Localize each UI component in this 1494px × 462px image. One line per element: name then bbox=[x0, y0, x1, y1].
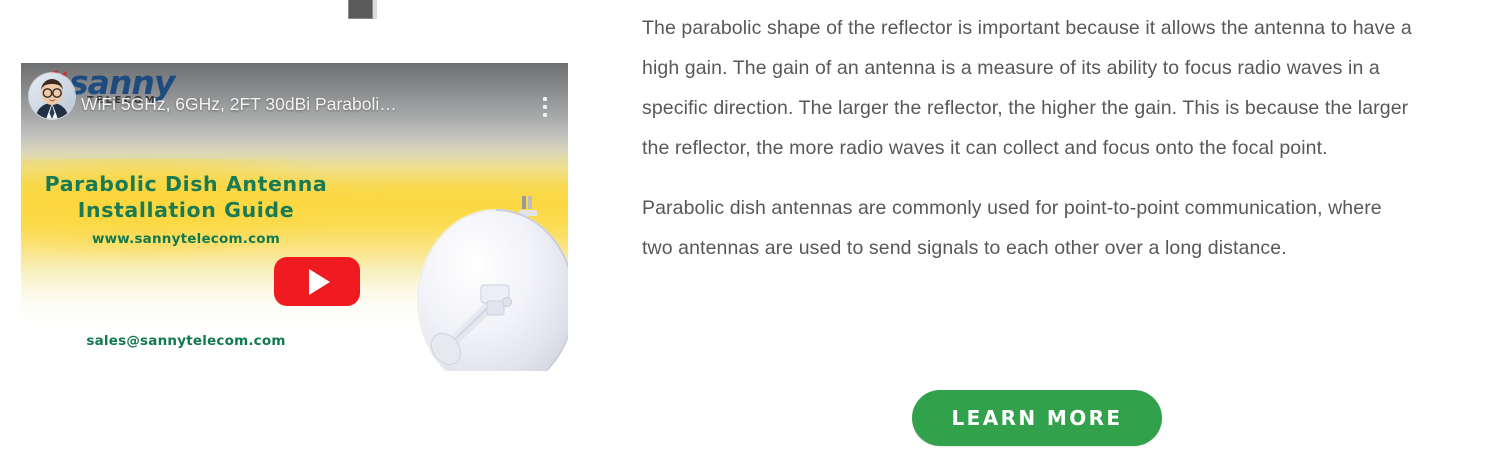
embedded-video-player[interactable]: Parabolic Dish Antenna Installation Guid… bbox=[21, 63, 568, 371]
article-copy: The parabolic shape of the reflector is … bbox=[642, 0, 1432, 268]
avatar[interactable] bbox=[29, 73, 75, 119]
thumbnail-heading-line-1: Parabolic Dish Antenna bbox=[45, 172, 328, 196]
article-paragraph-2: Parabolic dish antennas are commonly use… bbox=[642, 188, 1412, 268]
video-thumbnail[interactable]: Parabolic Dish Antenna Installation Guid… bbox=[21, 63, 568, 371]
video-title[interactable]: WiFi 5GHz, 6GHz, 2FT 30dBi Paraboli… bbox=[81, 94, 501, 115]
article-paragraph-1: The parabolic shape of the reflector is … bbox=[642, 8, 1432, 168]
learn-more-button[interactable]: LEARN MORE bbox=[912, 390, 1162, 446]
thumbnail-website: www.sannytelecom.com bbox=[21, 231, 351, 247]
thumbnail-heading-line-2: Installation Guide bbox=[78, 198, 294, 222]
thumbnail-email: sales@sannytelecom.com bbox=[21, 333, 351, 349]
parabolic-dish-antenna-icon bbox=[401, 181, 568, 371]
thumbnail-heading: Parabolic Dish Antenna Installation Guid… bbox=[21, 171, 351, 223]
play-triangle-icon bbox=[309, 269, 330, 295]
youtube-play-icon[interactable] bbox=[274, 257, 360, 306]
kebab-menu-icon[interactable] bbox=[536, 94, 554, 120]
clipped-scrollbar-stub-icon bbox=[348, 0, 373, 19]
page-root: Parabolic Dish Antenna Installation Guid… bbox=[0, 0, 1494, 462]
cta-row: LEARN MORE bbox=[642, 390, 1432, 446]
